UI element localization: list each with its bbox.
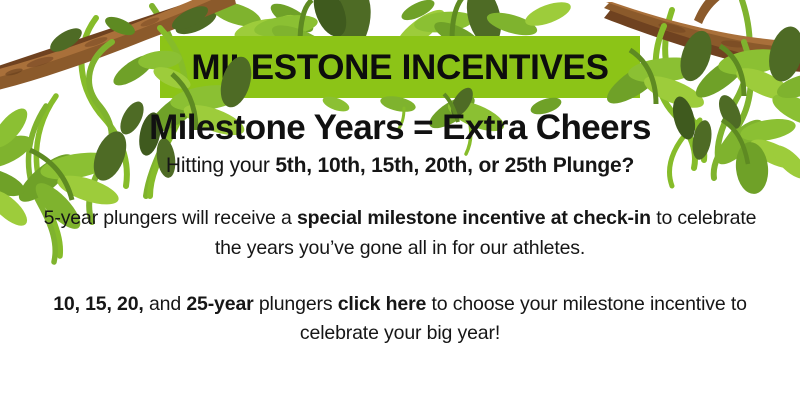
paragraph-1-bold-1: special milestone incentive at check-in [297, 207, 651, 229]
click-here-link[interactable]: click here [338, 293, 426, 315]
paragraph-milestone-choice: 10, 15, 20, and 25-year plungers click h… [0, 290, 800, 349]
poster-canvas: MILESTONE INCENTIVES [0, 0, 800, 400]
paragraph-2-part-2: plungers [254, 293, 338, 315]
paragraph-2-part-1: and [144, 293, 187, 315]
content-block: Milestone Years = Extra Cheers Hitting y… [0, 108, 800, 349]
subheadline-lead: Hitting your [166, 154, 275, 177]
paragraph-1-part-1: 5-year plungers will receive a [44, 207, 297, 229]
headline: Milestone Years = Extra Cheers [0, 108, 800, 147]
milestone-banner: MILESTONE INCENTIVES [160, 36, 640, 98]
subheadline: Hitting your 5th, 10th, 15th, 20th, or 2… [0, 153, 800, 178]
subheadline-emphasis: 5th, 10th, 15th, 20th, or 25th Plunge? [275, 154, 634, 177]
paragraph-2-bold-25-year: 25-year [186, 293, 253, 315]
banner-title: MILESTONE INCENTIVES [191, 50, 608, 85]
paragraph-2-bold-years: 10, 15, 20, [53, 293, 144, 315]
paragraph-five-year: 5-year plungers will receive a special m… [0, 204, 800, 263]
